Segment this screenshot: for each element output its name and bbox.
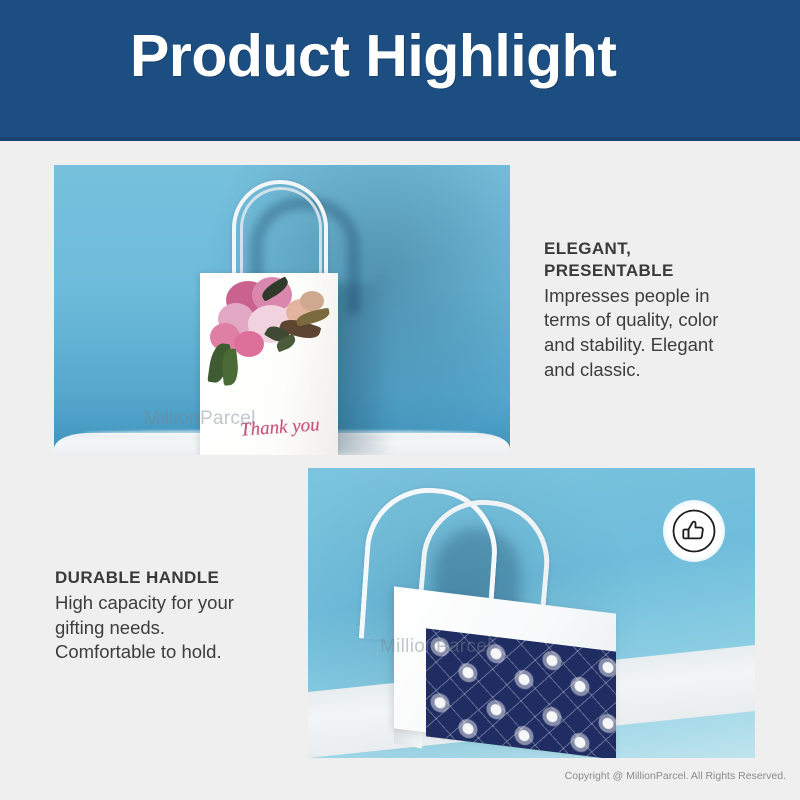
feature-body-durable: High capacity for your gifting needs. Co… bbox=[55, 591, 305, 665]
header-banner: Product Highlight bbox=[0, 0, 800, 141]
feature-body-elegant: Impresses people in terms of quality, co… bbox=[544, 284, 776, 383]
feature-block-elegant-presentable: ELEGANT, PRESENTABLE Impresses people in… bbox=[544, 238, 776, 383]
product-image-floral-bag[interactable]: Thank you MillionParcel bbox=[54, 165, 510, 455]
feature-heading-durable: DURABLE HANDLE bbox=[55, 567, 305, 589]
thumbs-up-badge bbox=[663, 500, 725, 562]
page-title: Product Highlight bbox=[130, 26, 616, 88]
copyright-text: Copyright @ MillionParcel. All Rights Re… bbox=[565, 770, 786, 782]
product-image-navy-bag[interactable]: MillionParcel bbox=[308, 468, 755, 758]
feature-block-durable-handle: DURABLE HANDLE High capacity for your gi… bbox=[55, 567, 305, 665]
navy-pattern-panel bbox=[426, 628, 616, 758]
floral-print bbox=[204, 277, 336, 382]
thumbs-up-icon bbox=[671, 508, 717, 554]
feature-heading-elegant: ELEGANT, PRESENTABLE bbox=[544, 238, 776, 282]
